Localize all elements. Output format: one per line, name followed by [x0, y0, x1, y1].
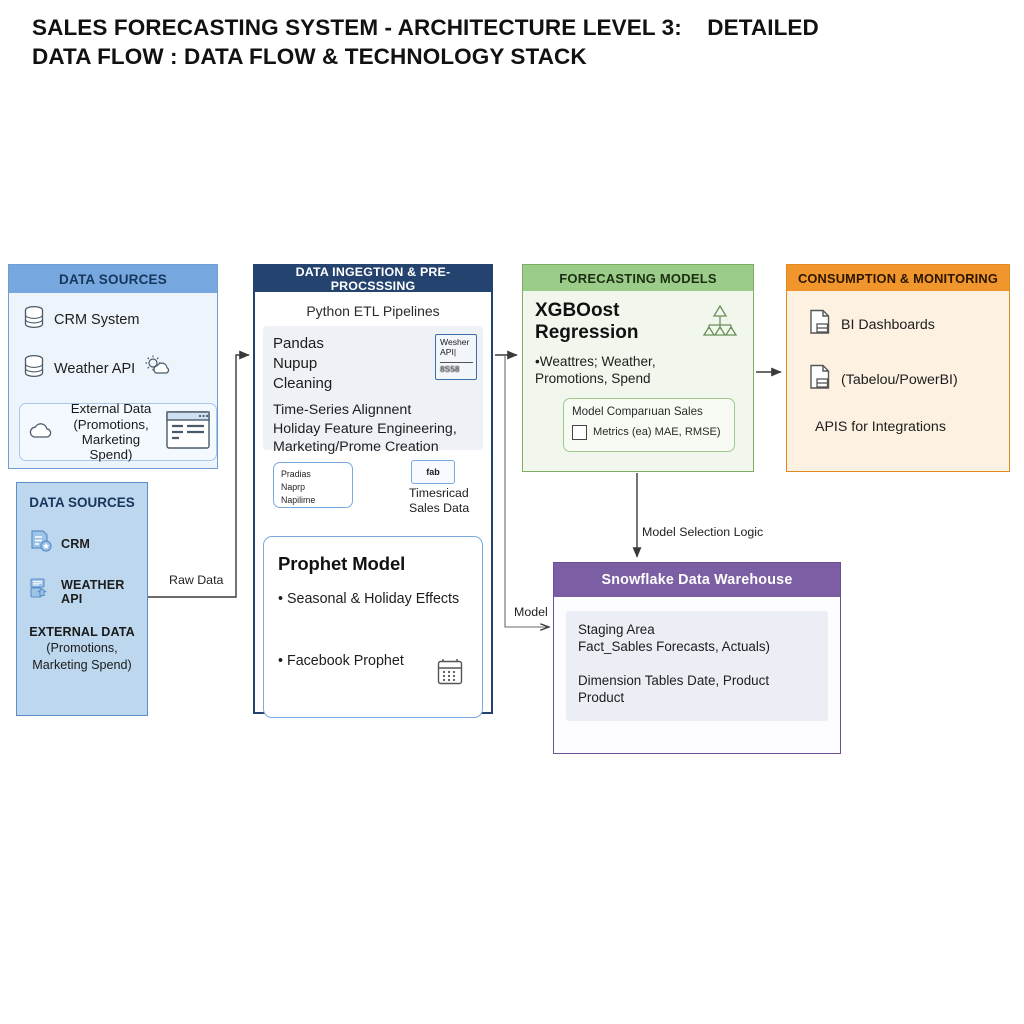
list-item-tableau-powerbi[interactable]: (Tabelou/PowerBI) [809, 364, 1009, 395]
edge-label-raw-data: Raw Data [167, 573, 225, 587]
external-data-card[interactable]: External Data (Promotions, Marketing Spe… [19, 403, 217, 461]
prophet-model-card: Prophet Model • Seasonal & Holiday Effec… [263, 536, 483, 718]
warehouse-header: Snowflake Data Warehouse [554, 563, 840, 597]
mini-left-line-3: Napilime [281, 494, 352, 507]
list-item-weather-api[interactable]: WEATHER API [17, 577, 147, 606]
panel-data-sources-top: DATA SOURCES CRM System [8, 264, 218, 469]
list-item-crm[interactable]: CRM [17, 529, 147, 558]
xgboost-bullet-line-1: •Weattres; Weather, [535, 353, 741, 370]
page-title: SALES FORECASTING SYSTEM - ARCHITECTURE … [32, 14, 932, 72]
database-icon [23, 354, 45, 383]
etl-pipelines-title: Python ETL Pipelines [263, 303, 483, 319]
etl-line-6: Marketing/Prome Creation [273, 438, 473, 457]
document-icon [809, 309, 831, 340]
data-sources-top-header: DATA SOURCES [9, 265, 217, 293]
list-item-label: (Tabelou/PowerBI) [841, 372, 958, 388]
panel-data-sources-bottom: DATA SOURCES CRM WE [16, 482, 148, 716]
data-sources-top-body: CRM System Weather API [9, 293, 217, 469]
list-item-bi-dashboards[interactable]: BI Dashboards [809, 309, 1009, 340]
timeseries-caption-line-2: Sales Data [409, 501, 469, 516]
table-window-icon [166, 411, 210, 454]
staging-area-line-1: Staging Area [578, 621, 816, 638]
list-item-label: Weather API [54, 361, 135, 377]
panel-data-ingestion: DATA INGEGTION & PRE-PROCSSSING Python E… [253, 264, 493, 714]
consumption-body: BI Dashboards (Tabelou/PowerBI) APIS for… [787, 291, 1009, 471]
decision-tree-icon [701, 303, 739, 342]
staging-area-line-2: Fact_Sables Forecasts, Actuals) [578, 638, 816, 655]
external-data-title: EXTERNAL DATA [17, 624, 147, 640]
database-icon [23, 305, 45, 334]
etl-line-5: Holiday Feature Engineering, [273, 420, 473, 439]
diagram-canvas: SALES FORECASTING SYSTEM - ARCHITECTURE … [0, 0, 1024, 1024]
ingestion-mid-row: Pradias Naprp Napilime fab Timesricad Sa… [263, 460, 483, 532]
document-badge-icon [29, 529, 53, 558]
mini-api-line-3: 8S58 [440, 365, 473, 374]
metrics-label: Metrics (ea) MAE, RMSE) [593, 426, 721, 438]
weather-api-mini-card[interactable]: Wesher API| 8S58 [435, 334, 477, 380]
external-data-line-1: External Data [62, 401, 160, 416]
prophet-bullet-1: • Seasonal & Holiday Effects [278, 591, 468, 607]
list-item-label: CRM [61, 537, 90, 551]
external-data-line-1: (Promotions, [17, 640, 147, 656]
data-sources-bottom-header: DATA SOURCES [17, 483, 147, 510]
external-data-line-3: Marketing Spend) [62, 432, 160, 463]
document-icon [809, 364, 831, 395]
list-item-label: BI Dashboards [841, 317, 935, 333]
external-data-text: External Data (Promotions, Marketing Spe… [62, 401, 160, 463]
list-item-label: CRM System [54, 312, 139, 328]
xgboost-bullet-line-2: Promotions, Spend [535, 370, 741, 387]
dimension-tables-line-2: Product [578, 689, 816, 706]
database-mini-icon: fab [411, 460, 455, 484]
divider [440, 362, 473, 363]
weather-card-icon [29, 577, 53, 606]
edge-label-model: Model [512, 605, 550, 619]
connector-layer [0, 0, 1024, 1024]
list-item-label: WEATHER API [61, 578, 147, 606]
list-item-crm-system[interactable]: CRM System [23, 305, 207, 334]
ingestion-body: Python ETL Pipelines Pandas Nupup Cleani… [255, 292, 491, 712]
page-title-line-1: SALES FORECASTING SYSTEM - ARCHITECTURE … [32, 14, 932, 43]
forecasting-body: XGBOost Regression [523, 291, 753, 471]
metrics-row[interactable]: Metrics (ea) MAE, RMSE) [572, 425, 726, 440]
calendar-icon [436, 656, 464, 691]
warehouse-tables-card: Staging Area Fact_Sables Forecasts, Actu… [566, 611, 828, 721]
list-item-apis-for-integrations[interactable]: APIS for Integrations [809, 419, 1009, 435]
external-data-line-2: (Promotions, [62, 417, 160, 432]
sun-cloud-icon [144, 354, 170, 383]
page-title-line-2: DATA FLOW : DATA FLOW & TECHNOLOGY STACK [32, 43, 932, 72]
external-data-block: EXTERNAL DATA (Promotions, Marketing Spe… [17, 624, 147, 673]
mini-left-line-2: Naprp [281, 481, 352, 494]
pipeline-mini-card[interactable]: Pradias Naprp Napilime [273, 462, 353, 508]
list-item-weather-api[interactable]: Weather API [23, 354, 207, 383]
external-data-line-2: Marketing Spend) [17, 657, 147, 673]
etl-line-4: Time-Series Alignnent [273, 401, 473, 420]
timeseries-caption-line-1: Timesricad [409, 486, 469, 501]
model-comparison-title: Model Comparıuan Sales [572, 405, 726, 418]
forecasting-header: FORECASTING MODELS [523, 265, 753, 291]
prophet-model-title: Prophet Model [278, 553, 468, 575]
dimension-tables-line-1: Dimension Tables Date, Product [578, 672, 816, 689]
timeseries-caption: Timesricad Sales Data [409, 486, 469, 517]
xgboost-bullets: •Weattres; Weather, Promotions, Spend [535, 353, 741, 388]
consumption-header: CONSUMPTION & MONITORING [787, 265, 1009, 291]
model-comparison-card: Model Comparıuan Sales Metrics (ea) MAE,… [563, 398, 735, 452]
mini-left-line-1: Pradias [281, 468, 352, 481]
panel-snowflake-data-warehouse: Snowflake Data Warehouse Staging Area Fa… [553, 562, 841, 754]
panel-forecasting-models: FORECASTING MODELS XGBOost Regression [522, 264, 754, 472]
warehouse-body: Staging Area Fact_Sables Forecasts, Actu… [554, 597, 840, 753]
cloud-icon [26, 420, 56, 445]
panel-consumption-monitoring: CONSUMPTION & MONITORING BI Dashboards [786, 264, 1010, 472]
edge-label-model-selection-logic: Model Selection Logic [640, 525, 765, 539]
etl-details-card: Pandas Nupup Cleaning Time-Series Alignn… [263, 326, 483, 450]
checkbox-icon[interactable] [572, 425, 587, 440]
mini-api-line-2: API| [440, 348, 473, 358]
ingestion-header: DATA INGEGTION & PRE-PROCSSSING [255, 266, 491, 292]
